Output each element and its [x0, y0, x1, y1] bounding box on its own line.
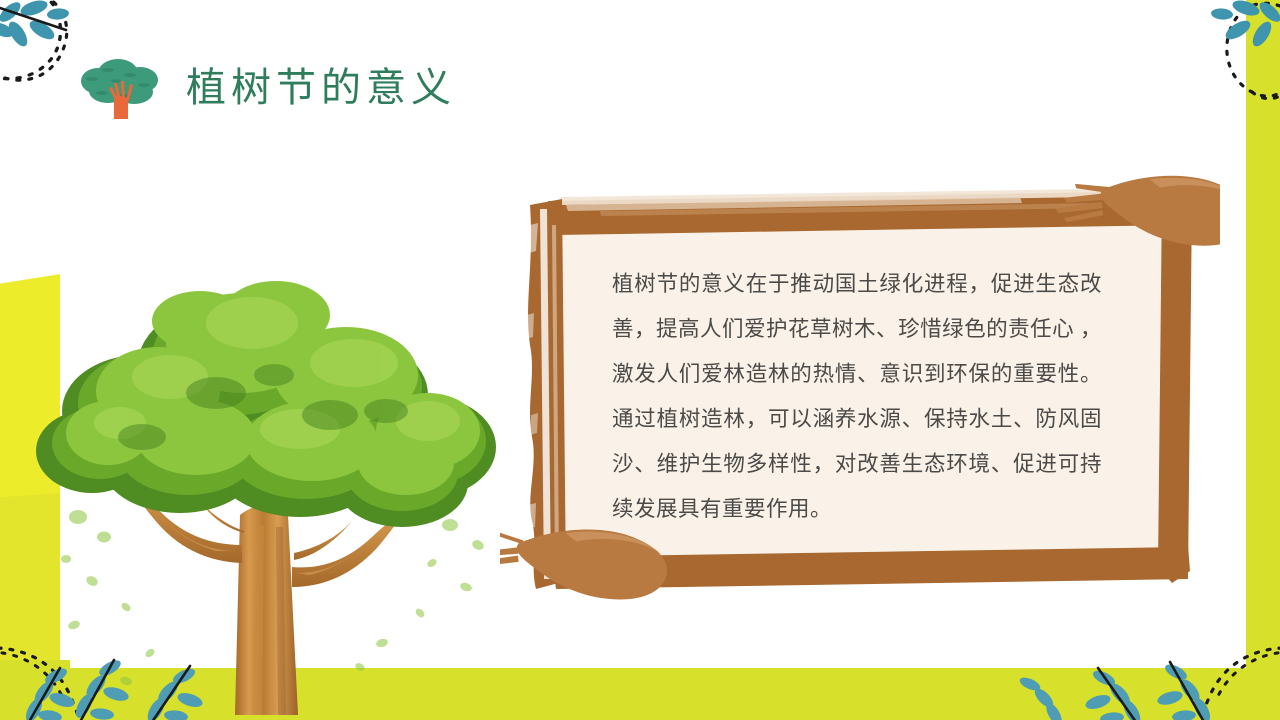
panel-body-text: 植树节的意义在于推动国土绿化进程，促进生态改善，提高人们爱护花草树木、珍惜绿色的…	[612, 262, 1102, 532]
dotted-arc-top-left-b	[5, 0, 67, 80]
leaf-stem-top-left	[0, 6, 66, 30]
dotted-arc-top-left	[0, 0, 60, 79]
page-title: 植树节的意义	[186, 68, 456, 108]
tree-icon	[78, 55, 164, 121]
slide-canvas: 植树节的意义	[0, 0, 1280, 720]
slide-header: 植树节的意义	[78, 55, 456, 121]
tree-trunk	[235, 506, 298, 715]
content-panel: 植树节的意义在于推动国土绿化进程，促进生态改善，提高人们爱护花草树木、珍惜绿色的…	[530, 190, 1175, 575]
tree-illustration	[30, 215, 520, 715]
leaf-sprig-top-left	[0, 0, 69, 49]
yellow-strip-right	[1246, 0, 1280, 720]
